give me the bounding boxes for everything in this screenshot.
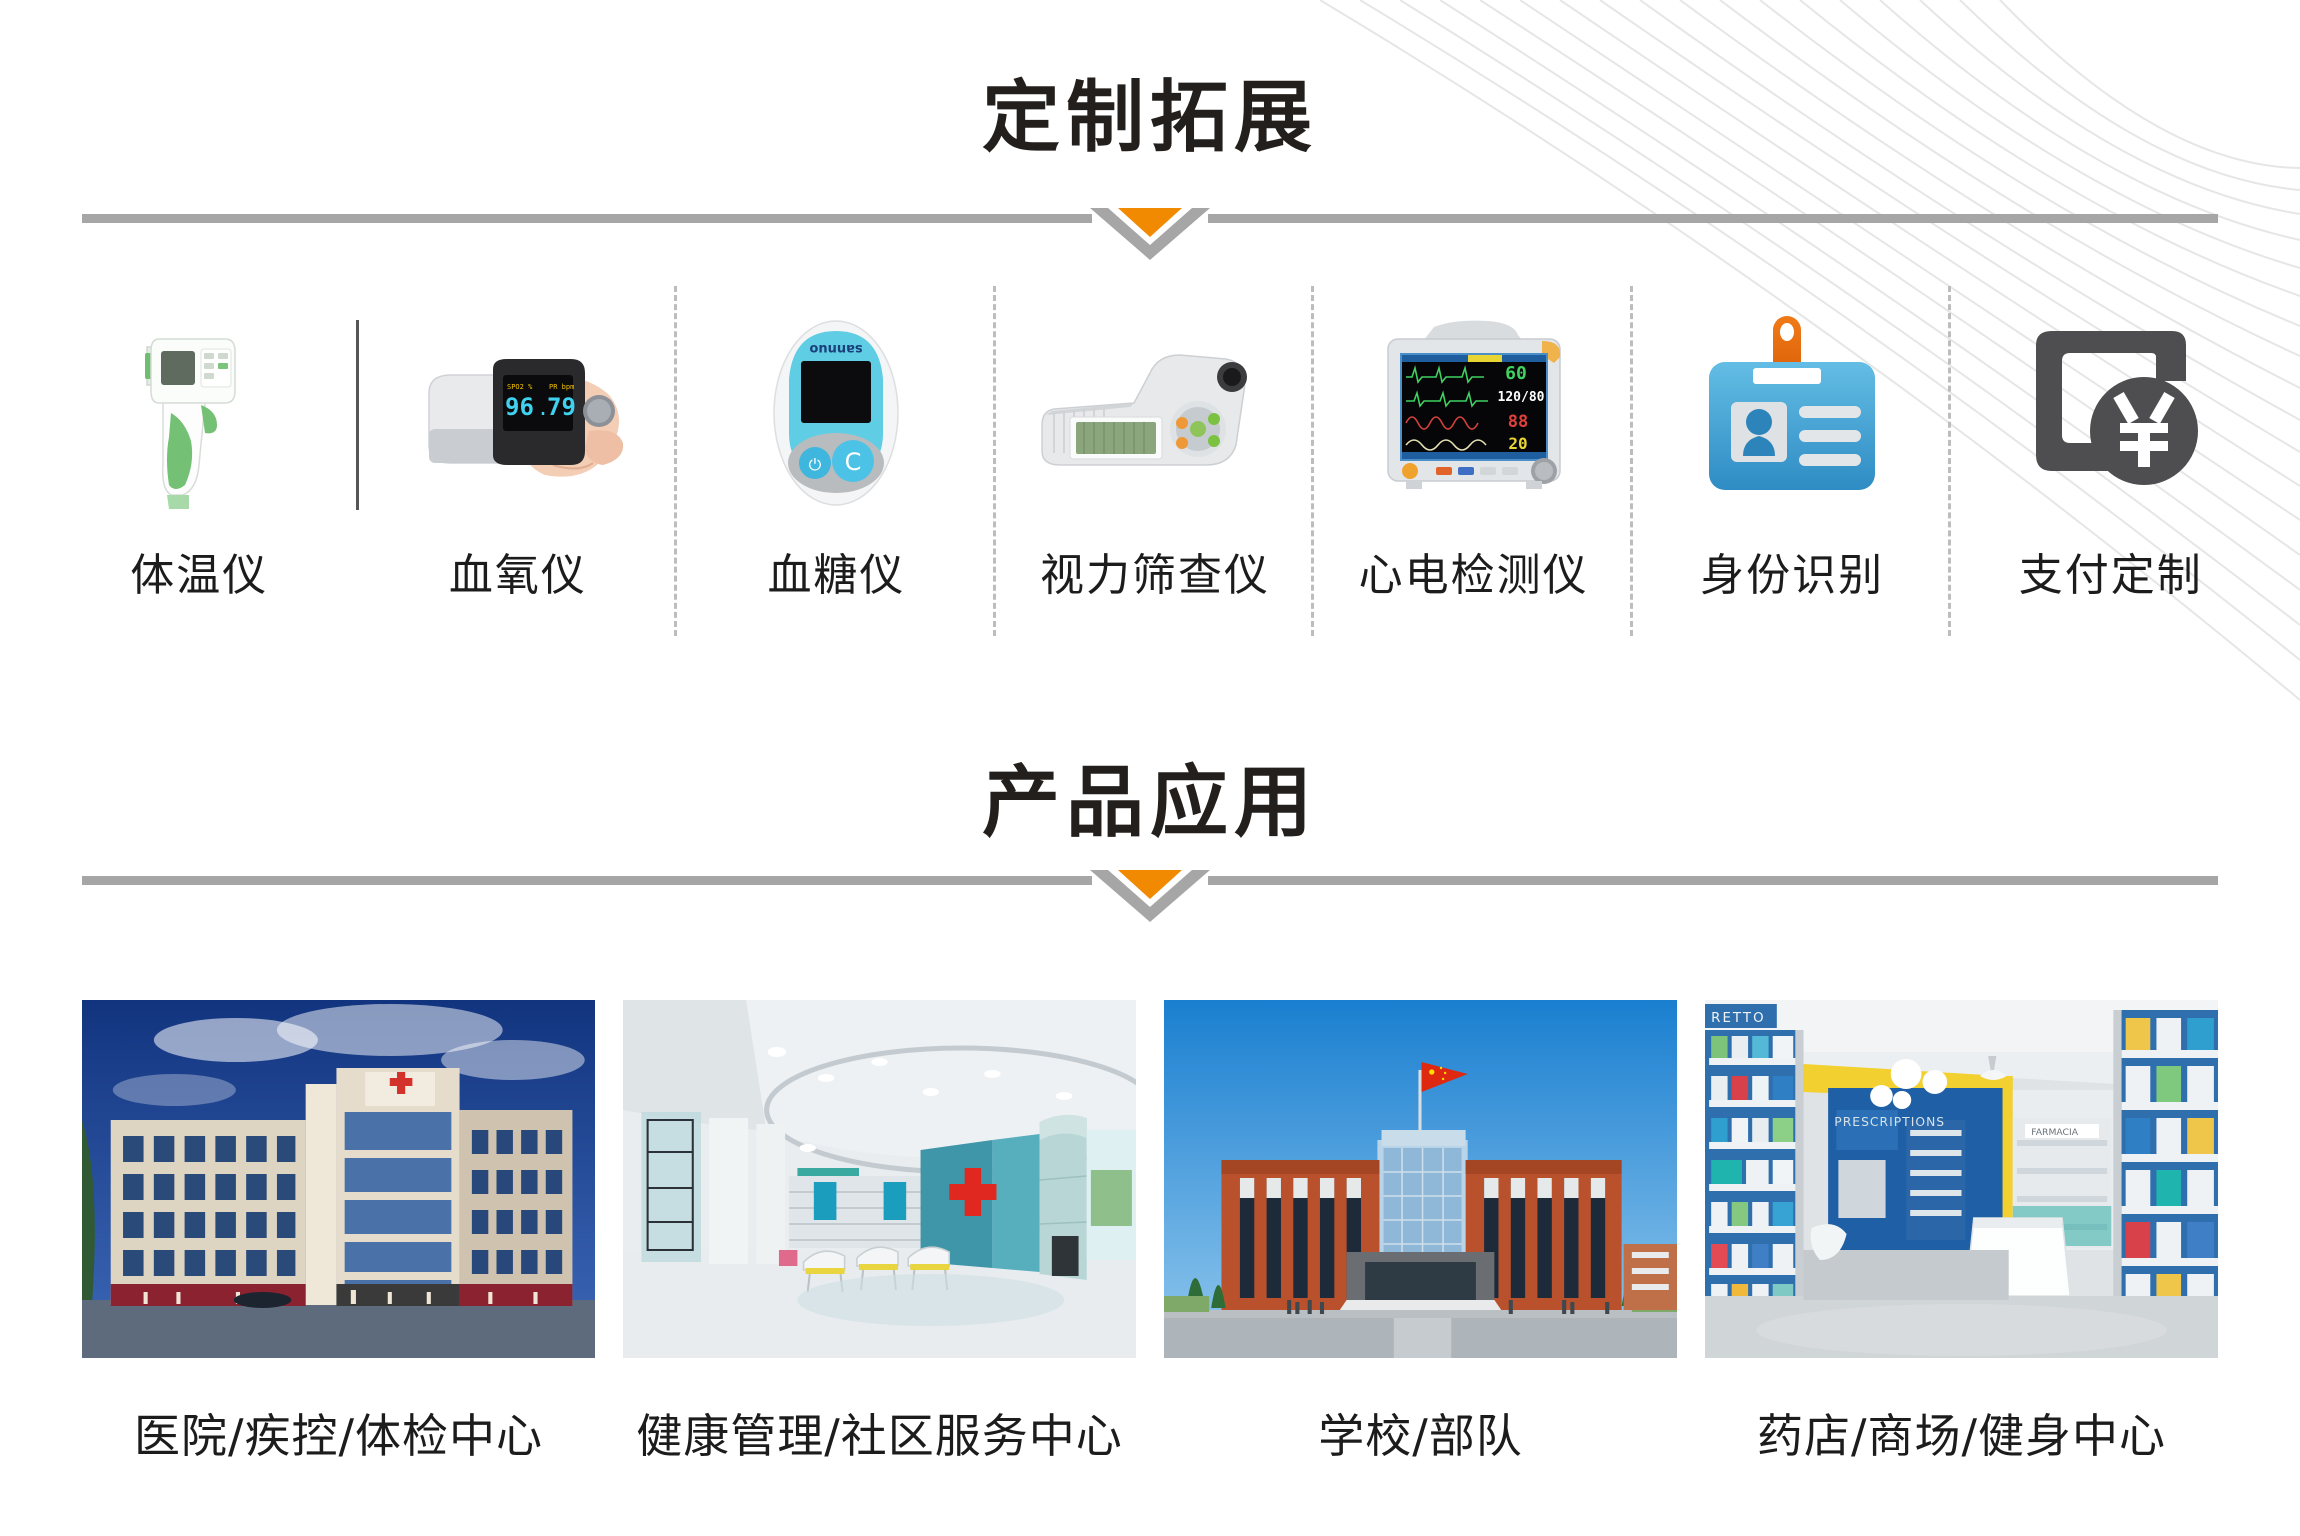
ecg-spo2-value: 88 (1508, 412, 1528, 432)
product-label: 视力筛查仪 (1040, 539, 1270, 603)
pr-field-label: PR bpm (549, 383, 574, 391)
product-item-ecg-monitor[interactable]: 60 120/80 88 20 心电检测仪 (1314, 300, 1633, 650)
divider-bar-left (82, 214, 1092, 223)
product-label: 体温仪 (130, 539, 268, 603)
payment-yen-icon (1951, 300, 2270, 525)
school-building-photo (1164, 1000, 1677, 1358)
ecg-nibp-value: 120/80 (1498, 390, 1545, 405)
product-item-glucose-meter[interactable]: sannuo ⏻ C 血糖仪 (677, 300, 996, 650)
product-icon-row: 体温仪 SPO2 % PR bpm (40, 300, 2270, 650)
spo2-field-label: SPO2 % (507, 383, 533, 391)
divider-bar-right (1208, 876, 2218, 885)
thermometer-icon (40, 300, 359, 525)
clinic-lobby-photo (623, 1000, 1136, 1358)
chevron-down-accent-icon (1090, 208, 1210, 260)
pr-value: 79 (547, 393, 576, 421)
product-label: 身份识别 (1700, 539, 1884, 603)
divider-bar-right (1208, 214, 2218, 223)
hospital-building-photo (82, 1000, 595, 1358)
glucose-meter-icon: sannuo ⏻ C (677, 300, 996, 525)
product-label: 支付定制 (2019, 539, 2203, 603)
application-item-clinic[interactable]: 健康管理/社区服务中心 (623, 1000, 1136, 1470)
ecg-resp-value: 20 (1508, 434, 1527, 453)
vision-screener-icon (996, 300, 1315, 525)
product-item-thermometer[interactable]: 体温仪 (40, 300, 359, 650)
product-item-identity[interactable]: 身份识别 (1633, 300, 1952, 650)
section-divider-applications (82, 862, 2218, 922)
product-label: 心电检测仪 (1359, 539, 1589, 603)
application-caption: 学校/部队 (1318, 1400, 1523, 1466)
pulse-oximeter-icon: SPO2 % PR bpm 96 . 79 (359, 300, 678, 525)
application-photo-row: 医院/疾控/体检中心 (82, 1000, 2218, 1470)
poster-page: 定制拓展 (0, 0, 2300, 1536)
product-item-payment[interactable]: 支付定制 (1951, 300, 2270, 650)
product-item-pulse-oximeter[interactable]: SPO2 % PR bpm 96 . 79 血氧仪 (359, 300, 678, 650)
svg-text:FARMACIA: FARMACIA (2031, 1128, 2079, 1138)
pharmacy-interior-photo: PRESCRIPTIONS (1705, 1000, 2218, 1358)
ecg-monitor-icon: 60 120/80 88 20 (1314, 300, 1633, 525)
application-item-pharmacy[interactable]: PRESCRIPTIONS (1705, 1000, 2218, 1470)
divider-bar-left (82, 876, 1092, 885)
product-label: 血氧仪 (449, 539, 587, 603)
glucose-c-button: C (845, 448, 862, 476)
id-card-icon (1633, 300, 1952, 525)
product-item-vision-screener[interactable]: 视力筛查仪 (996, 300, 1315, 650)
svg-text:PRESCRIPTIONS: PRESCRIPTIONS (1834, 1115, 1945, 1129)
application-caption: 健康管理/社区服务中心 (636, 1400, 1123, 1466)
application-item-school[interactable]: 学校/部队 (1164, 1000, 1677, 1470)
spo2-value: 96 (505, 393, 534, 421)
ecg-hr-value: 60 (1505, 363, 1527, 384)
glucose-brand: sannuo (810, 341, 863, 356)
chevron-down-accent-icon (1090, 870, 1210, 922)
product-label: 血糖仪 (767, 539, 905, 603)
section-divider-customization (82, 200, 2218, 260)
application-item-hospital[interactable]: 医院/疾控/体检中心 (82, 1000, 595, 1470)
application-caption: 药店/商场/健身中心 (1757, 1400, 2166, 1466)
section-title-applications: 产品应用 (0, 740, 2300, 852)
svg-text:RETTO: RETTO (1711, 1011, 1765, 1026)
section-title-customization: 定制拓展 (0, 55, 2300, 167)
application-caption: 医院/疾控/体检中心 (134, 1400, 543, 1466)
svg-text:⏻: ⏻ (809, 455, 822, 474)
